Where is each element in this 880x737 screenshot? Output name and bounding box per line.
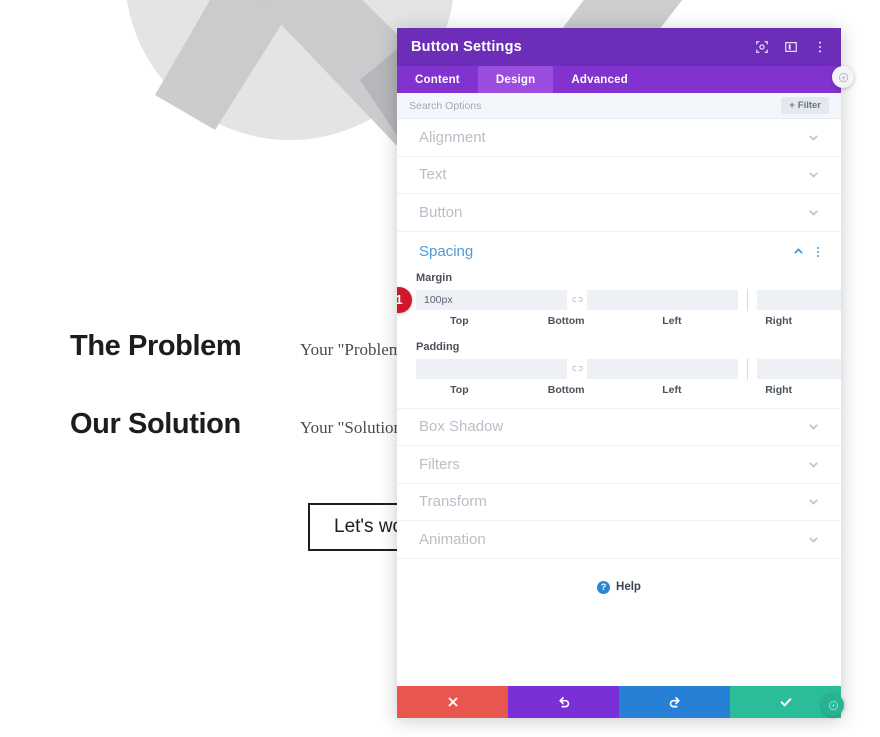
chevron-down-icon	[808, 132, 819, 143]
chevron-down-icon	[808, 421, 819, 432]
button-settings-modal: Button Settings Content Design	[397, 28, 841, 718]
padding-top-bottom-pair	[416, 359, 738, 379]
modal-header-actions	[755, 40, 827, 54]
padding-fields	[397, 358, 841, 380]
modal-tabs: Content Design Advanced	[397, 66, 841, 93]
check-icon	[779, 695, 793, 709]
layout-columns-icon[interactable]	[784, 40, 798, 54]
modal-body: Alignment Text Button Spacing	[397, 119, 841, 686]
margin-bottom-input[interactable]	[587, 290, 738, 310]
field-divider	[747, 358, 748, 380]
solution-heading: Our Solution	[70, 408, 300, 441]
undo-button[interactable]	[508, 686, 619, 718]
margin-left-input[interactable]	[757, 290, 841, 310]
problem-heading-col: The Problem	[0, 330, 300, 363]
section-button-label: Button	[419, 204, 808, 221]
more-vertical-icon[interactable]	[817, 247, 819, 257]
expand-icon[interactable]	[755, 40, 769, 54]
undo-icon	[557, 695, 571, 709]
problem-heading: The Problem	[70, 330, 300, 363]
plus-icon: +	[789, 100, 795, 111]
chevron-up-icon[interactable]	[793, 246, 804, 257]
section-spacing-label: Spacing	[419, 243, 793, 260]
more-vertical-icon[interactable]	[813, 40, 827, 54]
resize-handle-bottom[interactable]	[822, 694, 844, 716]
redo-button[interactable]	[619, 686, 730, 718]
field-divider	[747, 289, 748, 311]
padding-sublabels: Top Bottom Left Right	[397, 380, 841, 396]
section-filters-label: Filters	[419, 456, 808, 473]
search-bar: +Filter	[397, 93, 841, 119]
cancel-button[interactable]	[397, 686, 508, 718]
chevron-down-icon	[808, 459, 819, 470]
screen: The Problem Your "Problem" paragraph tex…	[0, 0, 880, 737]
modal-header: Button Settings	[397, 28, 841, 66]
section-alignment[interactable]: Alignment	[397, 119, 841, 157]
margin-top-input[interactable]	[416, 290, 567, 310]
padding-right-sublabel: Right	[735, 384, 822, 396]
link-broken-icon[interactable]	[567, 364, 587, 373]
tab-advanced[interactable]: Advanced	[553, 66, 646, 93]
search-input[interactable]	[409, 100, 781, 112]
step-badge-1: 1	[397, 287, 412, 313]
close-icon	[446, 695, 460, 709]
resize-handle-right[interactable]	[832, 66, 854, 88]
section-transform-label: Transform	[419, 493, 808, 510]
solution-heading-col: Our Solution	[0, 408, 300, 441]
margin-top-bottom-pair	[416, 290, 738, 310]
drag-handle-icon	[838, 72, 849, 83]
modal-title: Button Settings	[411, 39, 755, 55]
drag-handle-icon	[828, 700, 839, 711]
padding-left-input[interactable]	[757, 359, 841, 379]
filter-button[interactable]: +Filter	[781, 97, 829, 114]
link-broken-icon[interactable]	[567, 295, 587, 304]
help-label: Help	[616, 581, 641, 593]
help-row[interactable]: ? Help	[397, 559, 841, 616]
margin-fields: 1	[397, 289, 841, 311]
chevron-down-icon	[808, 169, 819, 180]
help-icon: ?	[597, 581, 610, 594]
margin-top-sublabel: Top	[416, 315, 503, 327]
section-spacing-header[interactable]: Spacing	[397, 232, 841, 272]
section-animation-label: Animation	[419, 531, 808, 548]
tab-design[interactable]: Design	[478, 66, 554, 93]
margin-right-sublabel: Right	[735, 315, 822, 327]
section-spacing: Spacing Margin 1	[397, 232, 841, 409]
modal-footer	[397, 686, 841, 718]
chevron-down-icon	[808, 207, 819, 218]
section-spacing-actions	[793, 246, 819, 257]
section-alignment-label: Alignment	[419, 129, 808, 146]
section-transform[interactable]: Transform	[397, 484, 841, 522]
tab-content[interactable]: Content	[397, 66, 478, 93]
padding-bottom-sublabel: Bottom	[523, 384, 610, 396]
padding-left-sublabel: Left	[629, 384, 716, 396]
chevron-down-icon	[808, 496, 819, 507]
padding-left-right-pair	[757, 359, 841, 379]
section-box-shadow[interactable]: Box Shadow	[397, 409, 841, 447]
margin-sublabels: Top Bottom Left Right	[397, 311, 841, 327]
section-filters[interactable]: Filters	[397, 446, 841, 484]
padding-top-sublabel: Top	[416, 384, 503, 396]
padding-label: Padding	[397, 327, 841, 358]
chevron-down-icon	[808, 534, 819, 545]
padding-top-input[interactable]	[416, 359, 567, 379]
margin-bottom-sublabel: Bottom	[523, 315, 610, 327]
redo-icon	[668, 695, 682, 709]
section-button[interactable]: Button	[397, 194, 841, 232]
margin-left-sublabel: Left	[629, 315, 716, 327]
section-text[interactable]: Text	[397, 157, 841, 195]
section-animation[interactable]: Animation	[397, 521, 841, 559]
filter-label: Filter	[798, 100, 821, 111]
section-box-shadow-label: Box Shadow	[419, 418, 808, 435]
margin-label: Margin	[397, 272, 841, 289]
margin-left-right-pair	[757, 290, 841, 310]
padding-bottom-input[interactable]	[587, 359, 738, 379]
section-text-label: Text	[419, 166, 808, 183]
